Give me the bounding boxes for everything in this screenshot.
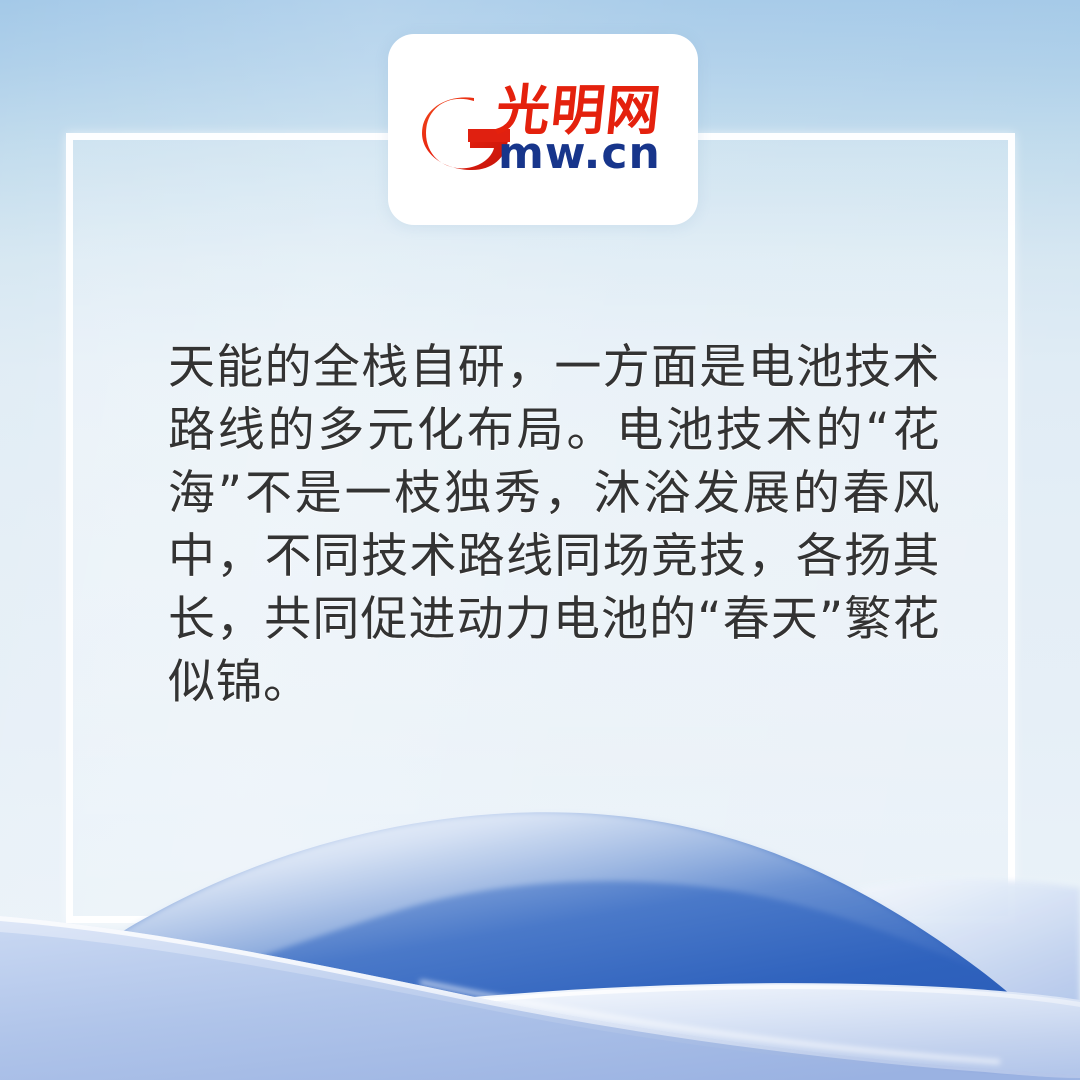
main-text-block: 天能的全栈自研，一方面是电池技术路线的多元化布局。电池技术的“花海”不是一枝独秀…	[168, 336, 940, 714]
logo-wrap: 光明网 mw.cn	[422, 82, 664, 178]
dune-mid	[0, 983, 1080, 1080]
dune-bottom-wash	[0, 932, 1080, 1080]
dune-dark-wave-highlight	[0, 812, 980, 1050]
dune-mid-rim-light	[0, 985, 1080, 1061]
body-paragraph: 天能的全栈自研，一方面是电池技术路线的多元化布局。电池技术的“花海”不是一枝独秀…	[168, 336, 940, 714]
dune-foreground	[0, 916, 1080, 1080]
dunes-svg	[0, 720, 1080, 1080]
dune-dark-wave	[0, 812, 1080, 1080]
dune-crest-streak	[420, 982, 1000, 1062]
dune-far-right	[760, 879, 1080, 1080]
decorative-dunes	[0, 720, 1080, 1080]
logo-card: 光明网 mw.cn	[388, 34, 698, 225]
logo-domain-text: mw.cn	[498, 132, 661, 176]
dune-left-glow	[0, 990, 190, 1080]
dune-foreground-rim-light	[0, 916, 1080, 1080]
poster-canvas: 光明网 mw.cn 天能的全栈自研，一方面是电池技术路线的多元化布局。电池技术的…	[0, 0, 1080, 1080]
